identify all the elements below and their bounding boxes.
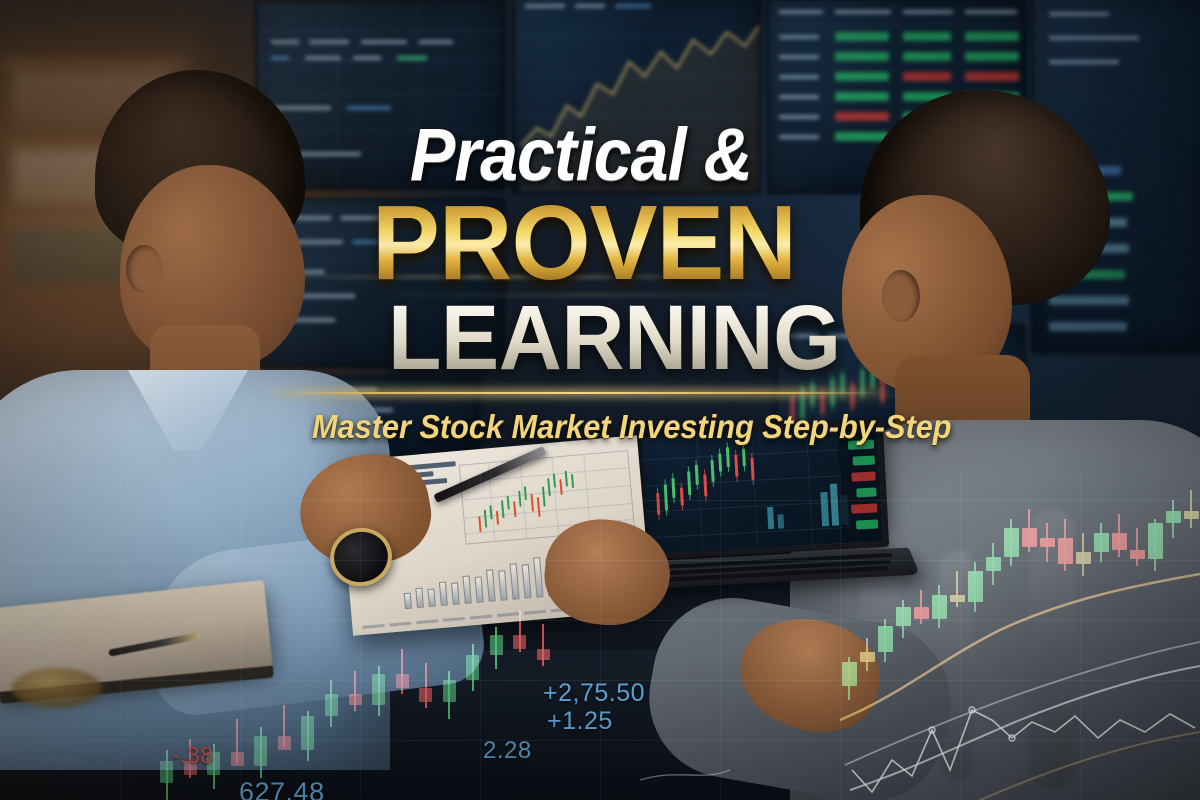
overlay-number-gain-small: +1.25 (547, 707, 613, 736)
marketing-banner: -.38 627.48 2.28 +2,75.50 +1.25 Practica… (0, 0, 1200, 800)
gold-divider (270, 392, 890, 394)
overlay-number-index-level: 627.48 (239, 777, 325, 800)
subtitle: Master Stock Market Investing Step-by-St… (312, 408, 952, 446)
headline-line-1: Practical & (410, 118, 752, 192)
headline-block: Practical & PROVEN LEARNING Master Stock… (300, 110, 920, 440)
overlay-number-gain-large: +2,75.50 (543, 679, 645, 708)
headline-line-2: PROVEN (372, 190, 796, 296)
overlay-number-pct-change: -.38 (172, 742, 214, 769)
overlay-number-mid-quote: 2.28 (483, 737, 532, 765)
headline-line-3: LEARNING (388, 292, 841, 384)
